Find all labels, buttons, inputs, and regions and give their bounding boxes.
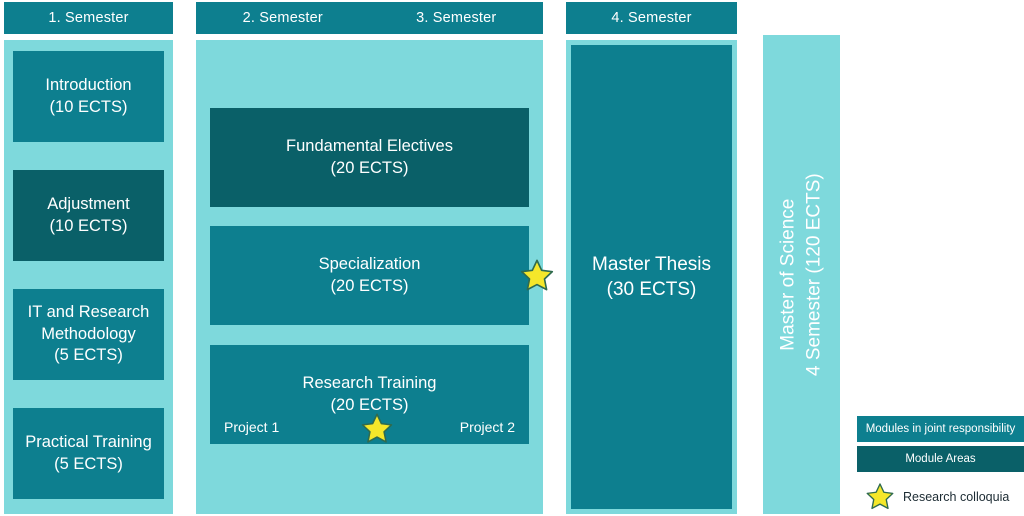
module-master-thesis[interactable]: Master Thesis (30 ECTS) bbox=[571, 45, 732, 509]
semester-header-4-label: 4. Semester bbox=[611, 10, 691, 26]
module-research-training-ects: (20 ECTS) bbox=[331, 395, 409, 417]
module-fundamental-electives-ects: (20 ECTS) bbox=[331, 158, 409, 180]
legend-item-research-colloquia: Research colloquia bbox=[857, 484, 1024, 510]
legend: Modules in joint responsibility Module A… bbox=[857, 416, 1024, 510]
module-it-and-research-methodology[interactable]: IT and Research Methodology (5 ECTS) bbox=[13, 289, 164, 380]
module-introduction-ects: (10 ECTS) bbox=[50, 97, 128, 119]
module-master-thesis-title: Master Thesis bbox=[592, 252, 711, 277]
degree-name: Master of Science bbox=[776, 173, 802, 376]
module-specialization-ects: (20 ECTS) bbox=[331, 276, 409, 298]
project-2-label: Project 2 bbox=[460, 418, 515, 436]
module-adjustment-ects: (10 ECTS) bbox=[50, 216, 128, 238]
module-specialization-title: Specialization bbox=[319, 254, 421, 276]
module-practical-training[interactable]: Practical Training (5 ECTS) bbox=[13, 408, 164, 499]
research-training-projects: Project 1 Project 2 bbox=[210, 418, 529, 436]
column-second-third-semester: Fundamental Electives (20 ECTS) Speciali… bbox=[196, 40, 543, 514]
degree-summary-text: Master of Science 4 Semester (120 ECTS) bbox=[776, 173, 827, 376]
legend-item-module-areas: Module Areas bbox=[857, 446, 1024, 472]
module-practical-training-title: Practical Training bbox=[25, 432, 152, 454]
module-master-thesis-ects: (30 ECTS) bbox=[607, 277, 697, 302]
module-introduction-title: Introduction bbox=[45, 75, 131, 97]
legend-star-label: Research colloquia bbox=[903, 490, 1009, 504]
semester-header-3-label: 3. Semester bbox=[416, 10, 496, 26]
module-fundamental-electives[interactable]: Fundamental Electives (20 ECTS) bbox=[210, 108, 529, 207]
module-research-training-title: Research Training bbox=[303, 373, 437, 395]
degree-duration-ects: 4 Semester (120 ECTS) bbox=[802, 173, 828, 376]
module-adjustment-title: Adjustment bbox=[47, 194, 130, 216]
degree-summary-column: Master of Science 4 Semester (120 ECTS) bbox=[763, 35, 840, 514]
module-adjustment[interactable]: Adjustment (10 ECTS) bbox=[13, 170, 164, 261]
semester-header-2-label: 2. Semester bbox=[243, 10, 323, 26]
project-1-label: Project 1 bbox=[224, 418, 279, 436]
module-fundamental-electives-title: Fundamental Electives bbox=[286, 136, 453, 158]
semester-header-1-label: 1. Semester bbox=[48, 10, 128, 26]
semester-header-4: 4. Semester bbox=[566, 2, 737, 34]
legend-joint-label: Modules in joint responsibility bbox=[866, 423, 1016, 435]
module-practical-training-ects: (5 ECTS) bbox=[54, 454, 123, 476]
column-fourth-semester: Master Thesis (30 ECTS) bbox=[566, 40, 737, 514]
legend-item-joint-responsibility: Modules in joint responsibility bbox=[857, 416, 1024, 442]
module-it-and-research-methodology-title: IT and Research Methodology bbox=[13, 302, 164, 346]
module-specialization[interactable]: Specialization (20 ECTS) bbox=[210, 226, 529, 325]
legend-star-icon bbox=[857, 482, 903, 512]
module-research-training[interactable]: Research Training (20 ECTS) Project 1 Pr… bbox=[210, 345, 529, 444]
module-it-and-research-methodology-ects: (5 ECTS) bbox=[54, 345, 123, 367]
semester-header-1: 1. Semester bbox=[4, 2, 173, 34]
module-introduction[interactable]: Introduction (10 ECTS) bbox=[13, 51, 164, 142]
legend-area-label: Module Areas bbox=[905, 453, 975, 465]
column-first-semester: Introduction (10 ECTS) Adjustment (10 EC… bbox=[4, 40, 173, 514]
semester-header-2-3: 2. Semester 3. Semester bbox=[196, 2, 543, 34]
